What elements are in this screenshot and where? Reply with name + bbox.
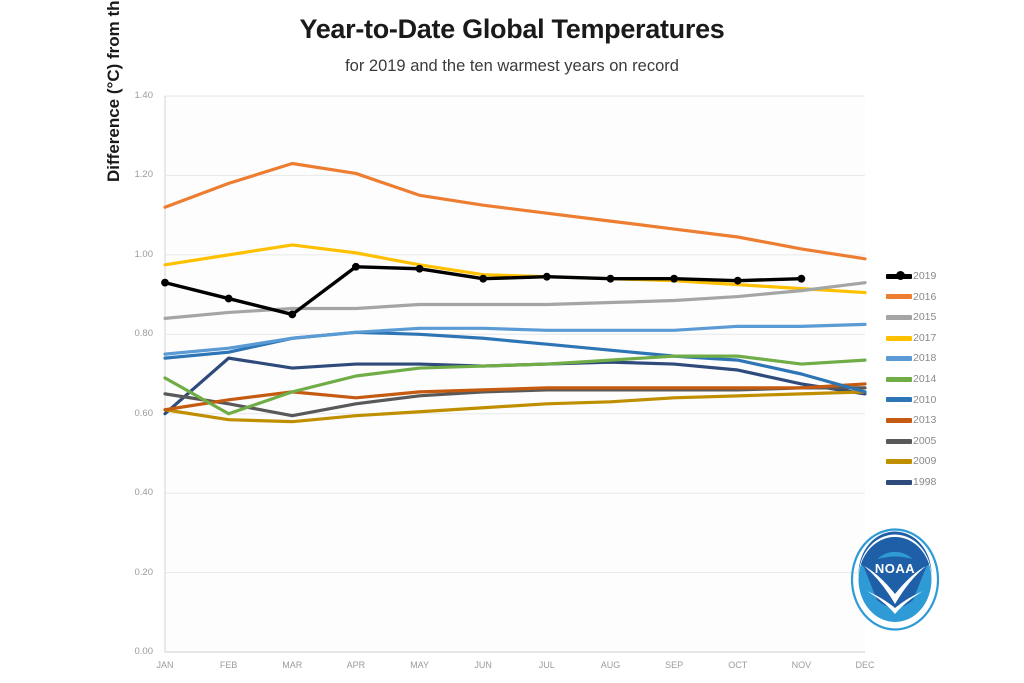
series-marker-2019	[734, 277, 742, 285]
series-marker-2019	[416, 265, 424, 273]
legend-label-2005: 2005	[913, 436, 936, 447]
legend-swatch-2009	[886, 459, 912, 464]
legend-swatch-2010	[886, 397, 912, 402]
series-marker-2019	[161, 279, 169, 287]
x-axis-tick-label: JUL	[517, 660, 577, 670]
y-axis-tick-label: 0.20	[109, 567, 153, 578]
legend-label-2019: 2019	[913, 271, 936, 282]
svg-text:NOAA: NOAA	[875, 561, 915, 576]
series-marker-2019	[225, 295, 233, 303]
legend-swatch-2018	[886, 356, 912, 361]
y-axis-tick-label: 0.00	[109, 646, 153, 657]
legend-item-2010[interactable]: 2010	[886, 390, 936, 411]
series-marker-2019	[670, 275, 678, 283]
y-axis-tick-label: 1.20	[109, 169, 153, 180]
legend-item-2019[interactable]: 2019	[886, 266, 936, 287]
noaa-logo: NOAA	[851, 528, 939, 631]
legend-item-1998[interactable]: 1998	[886, 472, 936, 493]
legend-label-2016: 2016	[913, 292, 936, 303]
x-axis-tick-label: AUG	[580, 660, 640, 670]
legend-label-2015: 2015	[913, 312, 936, 323]
legend-label-1998: 1998	[913, 477, 936, 488]
legend-swatch-2015	[886, 315, 912, 320]
x-axis-tick-label: OCT	[708, 660, 768, 670]
legend-swatch-2013	[886, 418, 912, 423]
legend-item-2014[interactable]: 2014	[886, 369, 936, 390]
y-axis-tick-label: 0.40	[109, 487, 153, 498]
legend-item-2005[interactable]: 2005	[886, 431, 936, 452]
chart-container: Year-to-Date Global Temperatures for 201…	[0, 0, 1024, 683]
legend-label-2018: 2018	[913, 353, 936, 364]
legend-swatch-2017	[886, 336, 912, 341]
x-axis-tick-label: NOV	[771, 660, 831, 670]
y-axis-tick-label: 0.60	[109, 408, 153, 419]
x-axis-tick-label: MAR	[262, 660, 322, 670]
chart-legend: 2019201620152017201820142010201320052009…	[886, 266, 936, 493]
legend-swatch-2005	[886, 439, 912, 444]
legend-item-2018[interactable]: 2018	[886, 348, 936, 369]
x-axis-tick-label: APR	[326, 660, 386, 670]
x-axis-tick-label: JUN	[453, 660, 513, 670]
legend-item-2015[interactable]: 2015	[886, 307, 936, 328]
x-axis-tick-label: JAN	[135, 660, 195, 670]
x-axis-tick-label: MAY	[390, 660, 450, 670]
legend-label-2014: 2014	[913, 374, 936, 385]
legend-swatch-1998	[886, 480, 912, 485]
legend-label-2009: 2009	[913, 456, 936, 467]
series-marker-2019	[607, 275, 615, 283]
legend-label-2010: 2010	[913, 395, 936, 406]
y-axis-tick-label: 1.40	[109, 90, 153, 101]
x-axis-tick-label: DEC	[835, 660, 895, 670]
legend-label-2017: 2017	[913, 333, 936, 344]
legend-swatch-2016	[886, 294, 912, 299]
legend-item-2017[interactable]: 2017	[886, 328, 936, 349]
legend-item-2016[interactable]: 2016	[886, 287, 936, 308]
series-marker-2019	[479, 275, 487, 283]
series-marker-2019	[797, 275, 805, 283]
legend-item-2013[interactable]: 2013	[886, 410, 936, 431]
legend-swatch-2019	[886, 274, 912, 279]
x-axis-tick-label: FEB	[199, 660, 259, 670]
x-axis-tick-label: SEP	[644, 660, 704, 670]
y-axis-tick-label: 0.80	[109, 328, 153, 339]
legend-label-2013: 2013	[913, 415, 936, 426]
y-axis-tick-label: 1.00	[109, 249, 153, 260]
series-marker-2019	[288, 311, 296, 319]
series-marker-2019	[352, 263, 360, 271]
legend-swatch-2014	[886, 377, 912, 382]
legend-item-2009[interactable]: 2009	[886, 451, 936, 472]
series-marker-2019	[543, 273, 551, 281]
